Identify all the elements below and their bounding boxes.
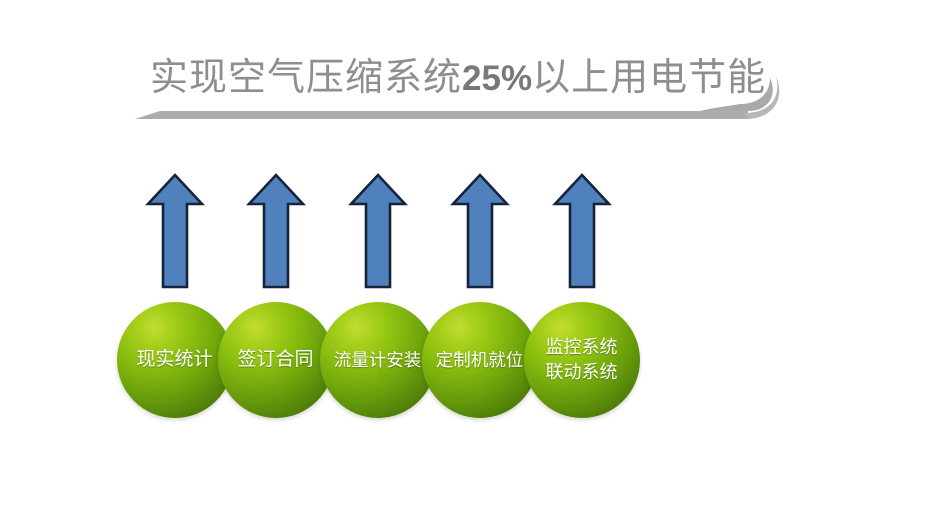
up-arrow-icon-1 — [145, 172, 205, 290]
up-arrow-icon-2 — [246, 172, 306, 290]
step-label-5: 监控系统 联动系统 — [508, 302, 656, 418]
up-arrow-icon-3 — [348, 172, 408, 290]
up-arrow-icon-4 — [450, 172, 510, 290]
up-arrow-glyph — [348, 172, 408, 290]
process-steps: 现实统计 签订合同 流量计安装 — [0, 0, 945, 529]
up-arrow-glyph — [145, 172, 205, 290]
up-arrow-glyph — [552, 172, 612, 290]
step-sphere-5[interactable]: 监控系统 联动系统 — [524, 302, 640, 418]
up-arrow-glyph — [246, 172, 306, 290]
up-arrow-glyph — [450, 172, 510, 290]
process-step-5[interactable]: 监控系统 联动系统 — [514, 0, 649, 529]
slide-canvas: 实现空气压缩系统25%以上用电节能 现实统计 签订合同 — [0, 0, 945, 529]
up-arrow-icon-5 — [552, 172, 612, 290]
